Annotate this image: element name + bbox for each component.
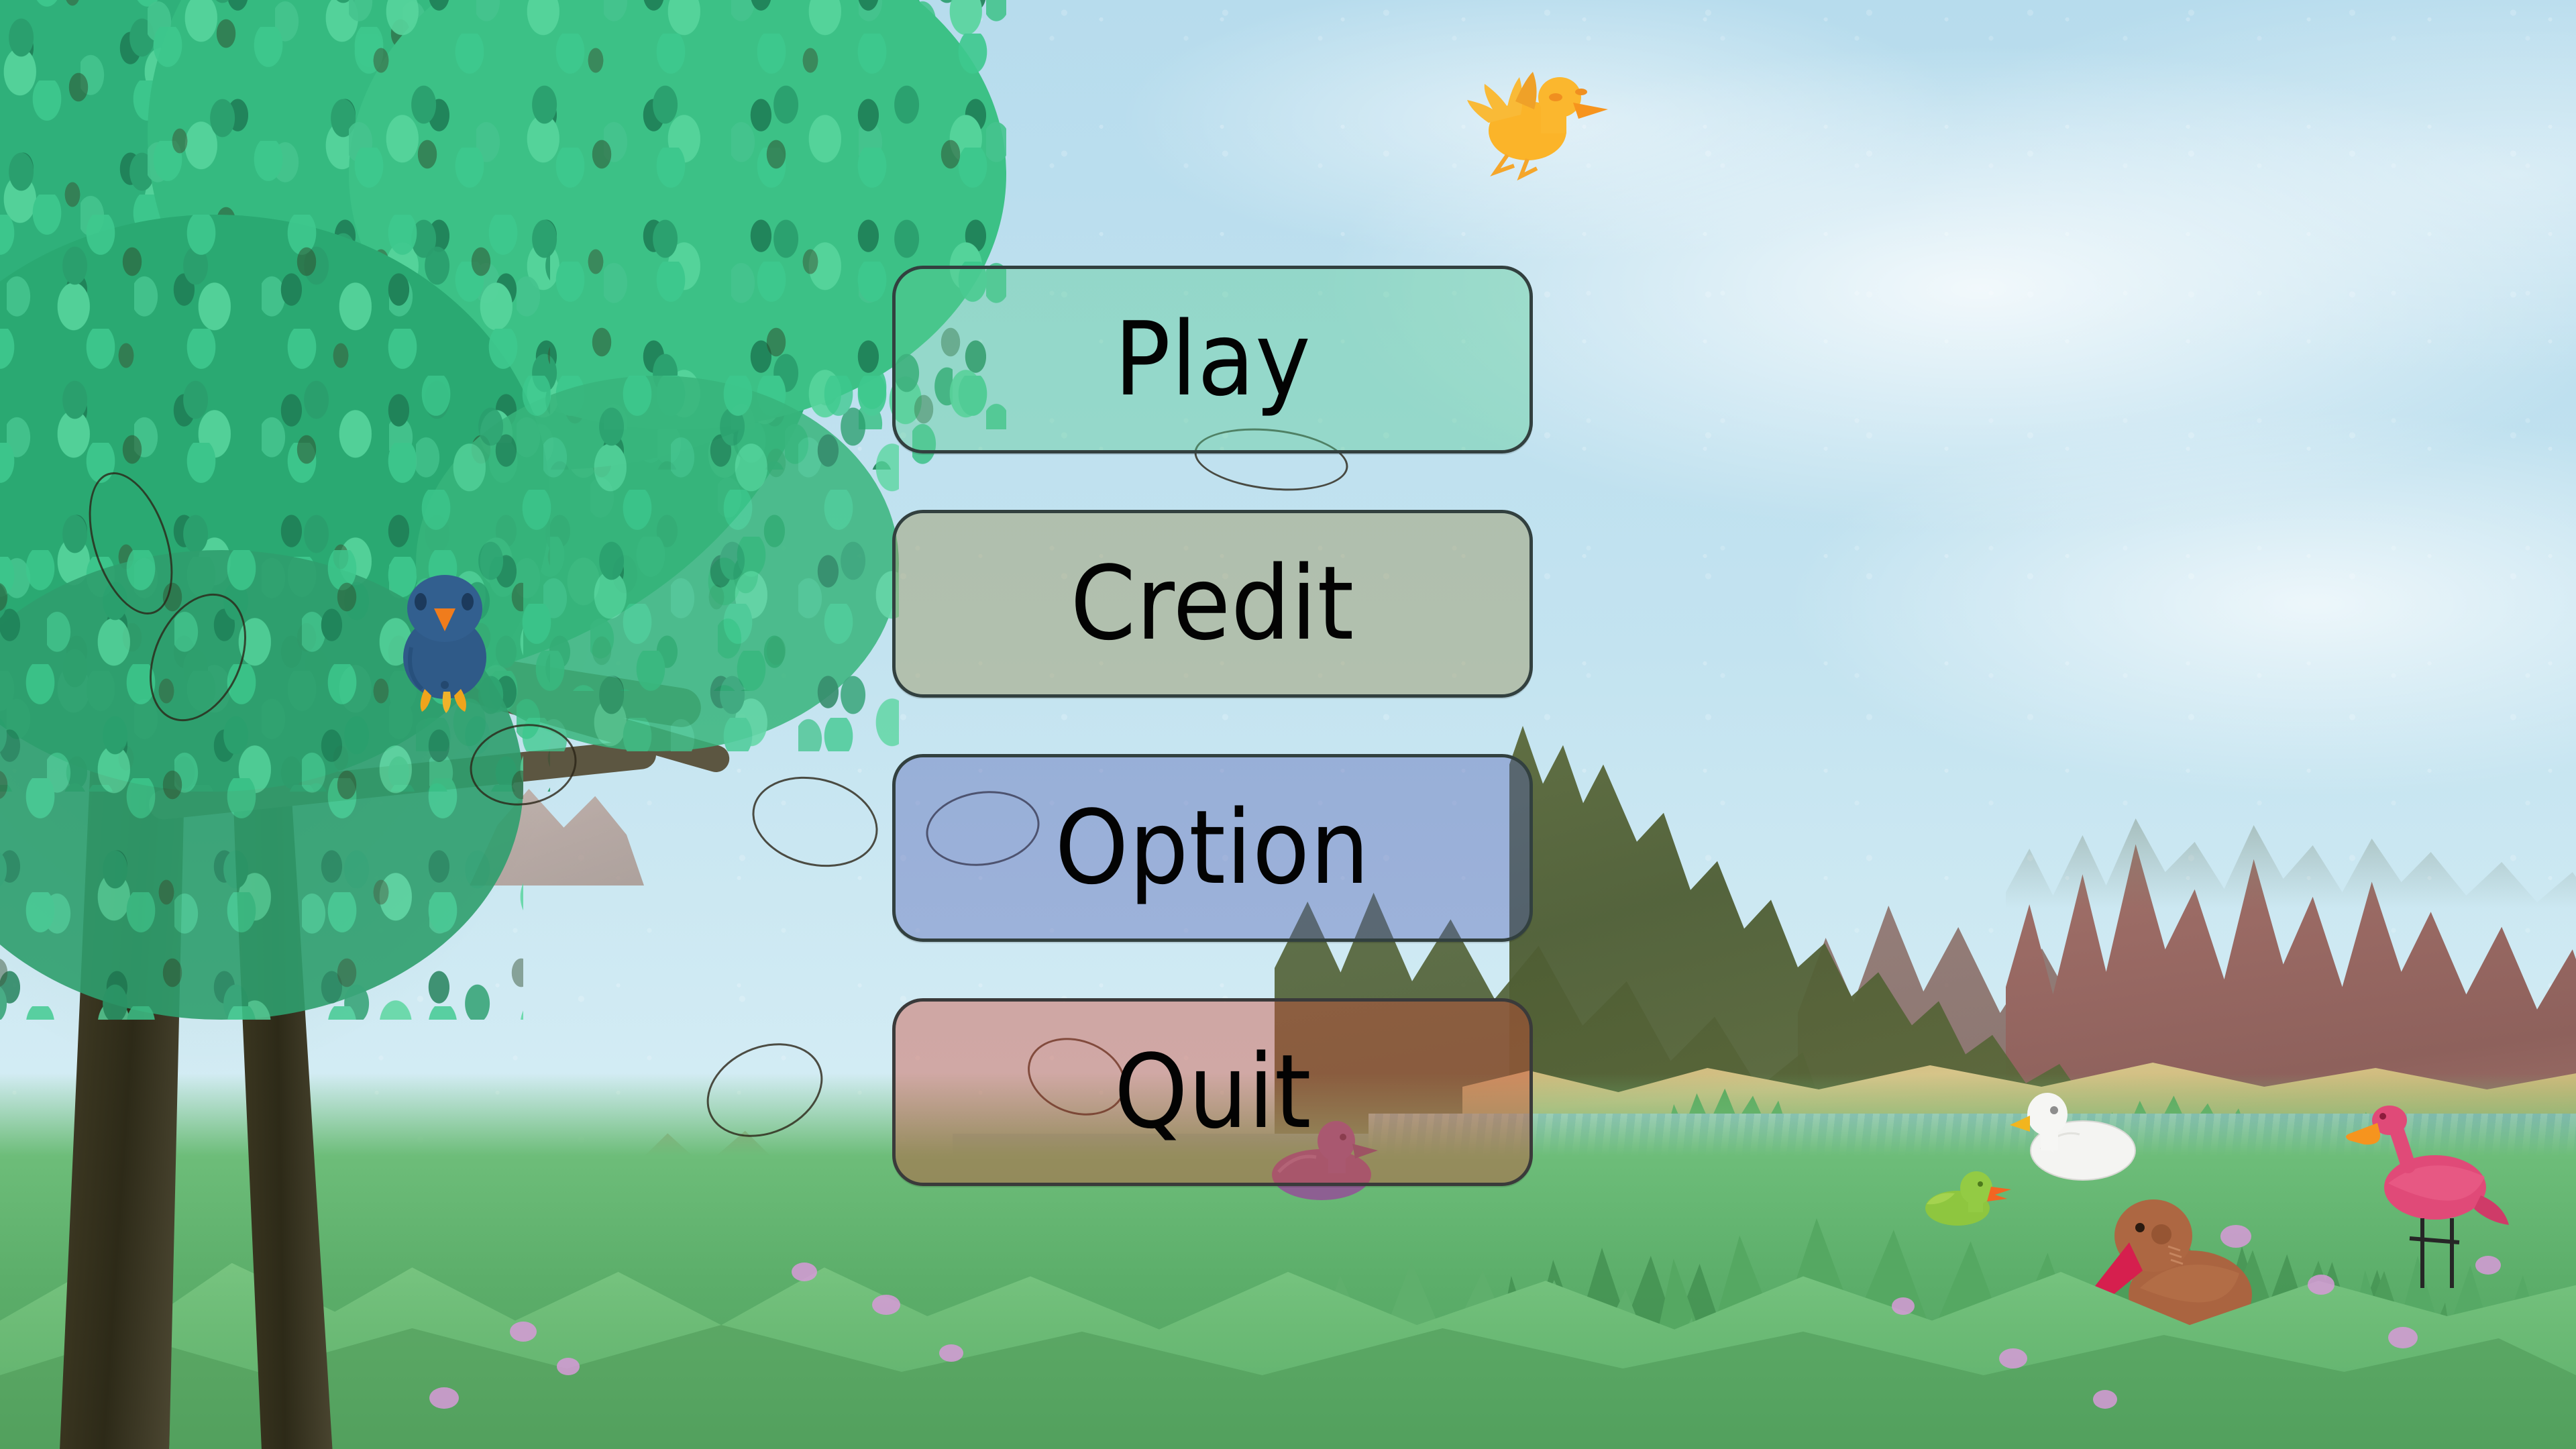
credit-button-label: Credit [1071,553,1354,655]
play-button-label: Play [1114,309,1311,411]
quit-button[interactable]: Quit [892,998,1533,1186]
pink-flower [2093,1390,2117,1409]
option-button[interactable]: Option [892,754,1533,942]
pink-flower [2475,1256,2501,1275]
flying-yellow-duck [1466,64,1607,174]
option-button-label: Option [1055,797,1370,899]
pink-flower [2220,1225,2251,1248]
blue-perched-bird [386,567,503,714]
pink-flower [2388,1327,2418,1348]
pink-flower [1892,1297,1915,1315]
credit-button[interactable]: Credit [892,510,1533,698]
small-green-duck [1919,1164,2012,1234]
play-button[interactable]: Play [892,266,1533,453]
quit-button-label: Quit [1114,1041,1311,1143]
pink-flower [2308,1275,2334,1295]
main-menu: Play Credit Option Quit [892,266,1533,1186]
pink-flower [1999,1348,2027,1368]
game-screen: Play Credit Option Quit [0,0,2576,1449]
